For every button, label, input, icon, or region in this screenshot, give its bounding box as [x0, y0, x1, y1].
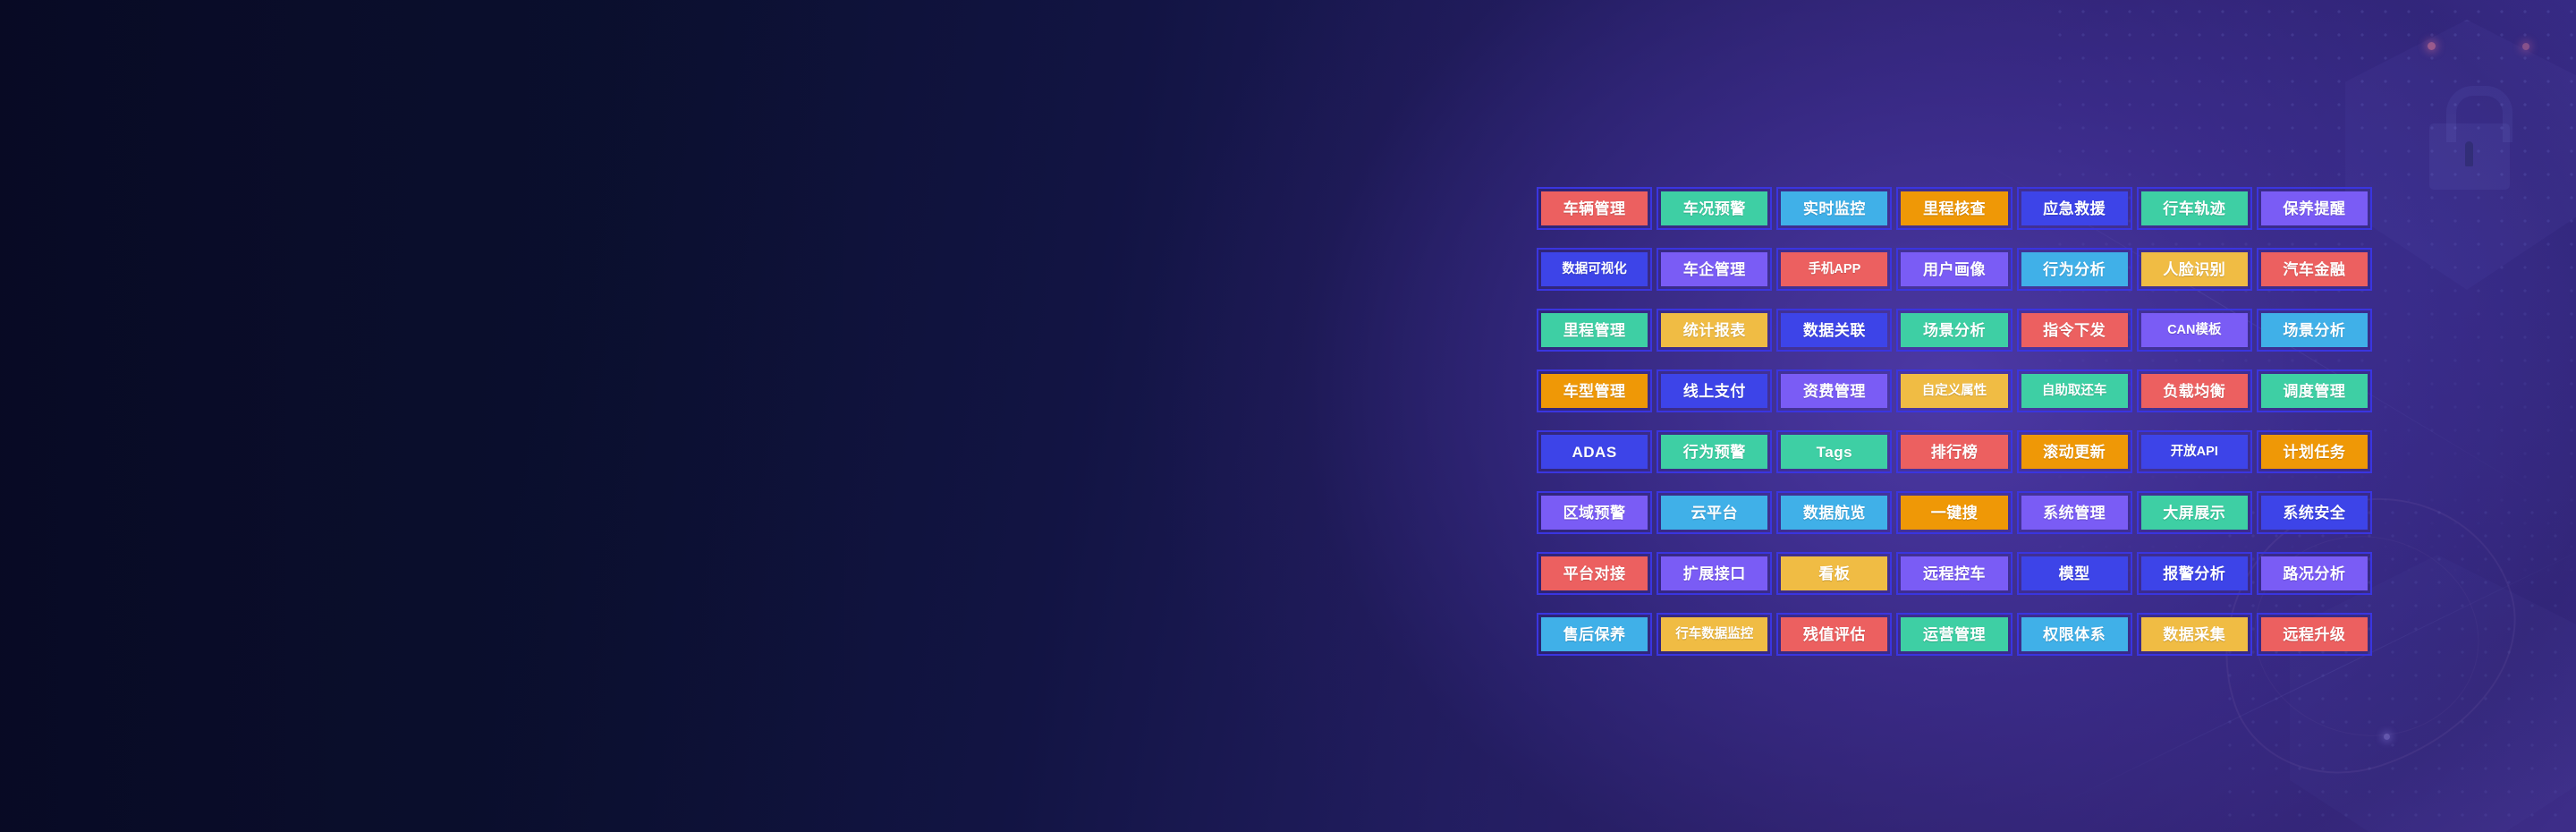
tag-label: 车况预警: [1661, 191, 1767, 225]
tag-label: 应急救援: [2021, 191, 2128, 225]
tag-label: 行为预警: [1661, 435, 1767, 469]
tag-button[interactable]: 场景分析: [1896, 309, 2012, 352]
tag-button[interactable]: 用户画像: [1896, 248, 2012, 291]
tag-button[interactable]: Tags: [1776, 430, 1892, 473]
screen-root: 车辆管理车况预警实时监控里程核查应急救援行车轨迹保养提醒数据可视化车企管理手机A…: [0, 0, 2576, 832]
tag-button[interactable]: 数据采集: [2137, 613, 2252, 656]
tag-label: 行车轨迹: [2141, 191, 2248, 225]
tag-label: 数据可视化: [1541, 252, 1648, 286]
tag-label: 数据航览: [1781, 496, 1887, 530]
tag-label: 里程管理: [1541, 313, 1648, 347]
tag-label: 排行榜: [1901, 435, 2007, 469]
tag-button[interactable]: 云平台: [1657, 491, 1772, 534]
tag-button[interactable]: 自助取还车: [2017, 369, 2132, 412]
tag-label: 资费管理: [1781, 374, 1887, 408]
tag-label: 车企管理: [1661, 252, 1767, 286]
tag-label: 系统管理: [2021, 496, 2128, 530]
tag-button[interactable]: 数据关联: [1776, 309, 1892, 352]
tag-button[interactable]: 开放API: [2137, 430, 2252, 473]
tag-label: 滚动更新: [2021, 435, 2128, 469]
tag-button[interactable]: 数据可视化: [1537, 248, 1652, 291]
tag-button[interactable]: 看板: [1776, 552, 1892, 595]
tag-label: 统计报表: [1661, 313, 1767, 347]
tag-label: 报警分析: [2141, 556, 2248, 590]
tag-button[interactable]: 扩展接口: [1657, 552, 1772, 595]
tag-button[interactable]: 汽车金融: [2257, 248, 2372, 291]
tag-label: 一键搜: [1901, 496, 2007, 530]
tag-label: 车型管理: [1541, 374, 1648, 408]
tag-button[interactable]: 里程管理: [1537, 309, 1652, 352]
tag-label: 行车数据监控: [1661, 617, 1767, 651]
capability-tag-grid: 车辆管理车况预警实时监控里程核查应急救援行车轨迹保养提醒数据可视化车企管理手机A…: [1537, 187, 2372, 656]
tag-button[interactable]: 远程控车: [1896, 552, 2012, 595]
tag-button[interactable]: 应急救援: [2017, 187, 2132, 230]
tag-label: 权限体系: [2021, 617, 2128, 651]
tag-button[interactable]: 售后保养: [1537, 613, 1652, 656]
tag-button[interactable]: 滚动更新: [2017, 430, 2132, 473]
tag-label: Tags: [1781, 435, 1887, 469]
tag-label: 看板: [1781, 556, 1887, 590]
tag-button[interactable]: 资费管理: [1776, 369, 1892, 412]
tag-button[interactable]: 大屏展示: [2137, 491, 2252, 534]
tag-button[interactable]: 远程升级: [2257, 613, 2372, 656]
tag-button[interactable]: 系统安全: [2257, 491, 2372, 534]
tag-button[interactable]: 一键搜: [1896, 491, 2012, 534]
tag-label: 运营管理: [1901, 617, 2007, 651]
tag-label: 车辆管理: [1541, 191, 1648, 225]
lock-icon: [2446, 86, 2512, 142]
tag-button[interactable]: 调度管理: [2257, 369, 2372, 412]
tag-button[interactable]: 报警分析: [2137, 552, 2252, 595]
tag-label: 平台对接: [1541, 556, 1648, 590]
tag-label: 人脸识别: [2141, 252, 2248, 286]
tag-button[interactable]: 负载均衡: [2137, 369, 2252, 412]
glow-dot: [2384, 734, 2390, 740]
hex-shield-icon: [2345, 20, 2576, 290]
tag-label: 计划任务: [2261, 435, 2368, 469]
tag-label: 区域预警: [1541, 496, 1648, 530]
tag-button[interactable]: 平台对接: [1537, 552, 1652, 595]
tag-label: 残值评估: [1781, 617, 1887, 651]
tag-label: 数据采集: [2141, 617, 2248, 651]
tag-button[interactable]: 场景分析: [2257, 309, 2372, 352]
tag-label: 保养提醒: [2261, 191, 2368, 225]
tag-button[interactable]: 统计报表: [1657, 309, 1772, 352]
tag-button[interactable]: 车辆管理: [1537, 187, 1652, 230]
tag-label: 远程控车: [1901, 556, 2007, 590]
lock-keyhole-icon: [2465, 141, 2473, 166]
tag-button[interactable]: 模型: [2017, 552, 2132, 595]
tag-button[interactable]: ADAS: [1537, 430, 1652, 473]
tag-button[interactable]: CAN模板: [2137, 309, 2252, 352]
tag-label: 数据关联: [1781, 313, 1887, 347]
tag-label: 云平台: [1661, 496, 1767, 530]
tag-label: 售后保养: [1541, 617, 1648, 651]
tag-button[interactable]: 实时监控: [1776, 187, 1892, 230]
tag-button[interactable]: 人脸识别: [2137, 248, 2252, 291]
tag-label: 自助取还车: [2021, 374, 2128, 408]
tag-button[interactable]: 行车轨迹: [2137, 187, 2252, 230]
tag-label: 路况分析: [2261, 556, 2368, 590]
tag-label: 调度管理: [2261, 374, 2368, 408]
tag-button[interactable]: 指令下发: [2017, 309, 2132, 352]
tag-button[interactable]: 行为预警: [1657, 430, 1772, 473]
tag-label: 场景分析: [2261, 313, 2368, 347]
tag-label: 开放API: [2141, 435, 2248, 469]
tag-label: 大屏展示: [2141, 496, 2248, 530]
tag-button[interactable]: 行为分析: [2017, 248, 2132, 291]
tag-button[interactable]: 计划任务: [2257, 430, 2372, 473]
tag-label: CAN模板: [2141, 313, 2248, 347]
tag-button[interactable]: 残值评估: [1776, 613, 1892, 656]
tag-button[interactable]: 行车数据监控: [1657, 613, 1772, 656]
tag-button[interactable]: 里程核查: [1896, 187, 2012, 230]
tag-label: 实时监控: [1781, 191, 1887, 225]
tag-button[interactable]: 系统管理: [2017, 491, 2132, 534]
glow-dot: [2428, 42, 2436, 50]
tag-label: 里程核查: [1901, 191, 2007, 225]
tag-label: 扩展接口: [1661, 556, 1767, 590]
tag-label: 模型: [2021, 556, 2128, 590]
tag-label: 指令下发: [2021, 313, 2128, 347]
tag-button[interactable]: 保养提醒: [2257, 187, 2372, 230]
tag-button[interactable]: 权限体系: [2017, 613, 2132, 656]
glow-dot: [2522, 43, 2529, 50]
tag-button[interactable]: 路况分析: [2257, 552, 2372, 595]
tag-button[interactable]: 运营管理: [1896, 613, 2012, 656]
tag-label: 负载均衡: [2141, 374, 2248, 408]
tag-label: ADAS: [1541, 435, 1648, 469]
tag-label: 自定义属性: [1901, 374, 2007, 408]
tag-label: 用户画像: [1901, 252, 2007, 286]
tag-label: 场景分析: [1901, 313, 2007, 347]
tag-button[interactable]: 排行榜: [1896, 430, 2012, 473]
tag-button[interactable]: 车企管理: [1657, 248, 1772, 291]
tag-label: 汽车金融: [2261, 252, 2368, 286]
tag-button[interactable]: 车型管理: [1537, 369, 1652, 412]
tag-button[interactable]: 线上支付: [1657, 369, 1772, 412]
tag-label: 线上支付: [1661, 374, 1767, 408]
tag-label: 行为分析: [2021, 252, 2128, 286]
tag-button[interactable]: 区域预警: [1537, 491, 1652, 534]
tag-button[interactable]: 车况预警: [1657, 187, 1772, 230]
tag-label: 手机APP: [1781, 252, 1887, 286]
tag-button[interactable]: 自定义属性: [1896, 369, 2012, 412]
tag-button[interactable]: 数据航览: [1776, 491, 1892, 534]
tag-label: 系统安全: [2261, 496, 2368, 530]
lock-body-icon: [2429, 123, 2510, 190]
tag-label: 远程升级: [2261, 617, 2368, 651]
tag-button[interactable]: 手机APP: [1776, 248, 1892, 291]
